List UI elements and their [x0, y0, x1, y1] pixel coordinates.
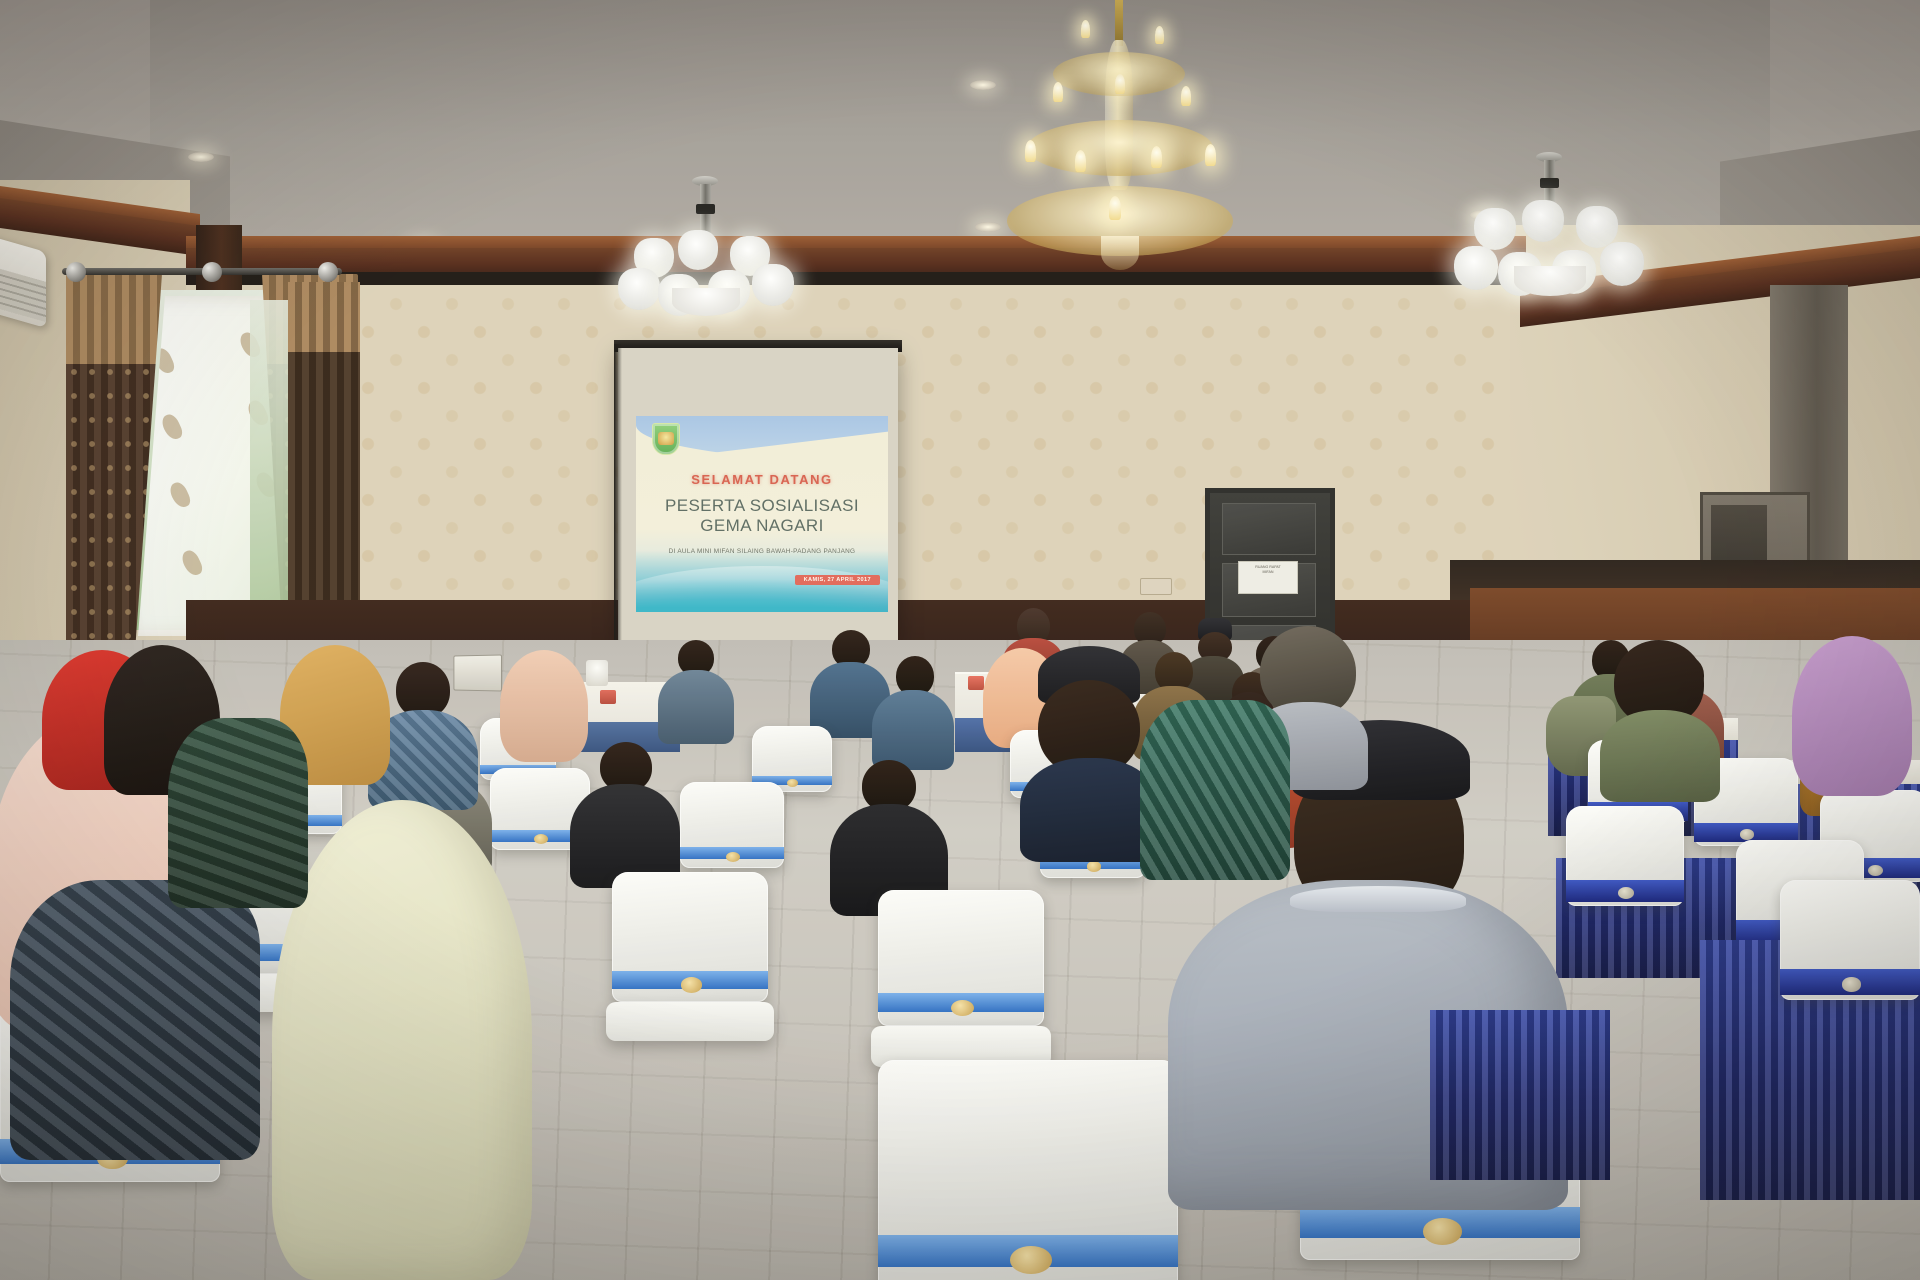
chandelier-candle-bulb [1025, 140, 1036, 162]
conference-room-photo: SELAMAT DATANG PESERTA SOSIALISASI GEMA … [0, 0, 1920, 1280]
tulip-shade [618, 268, 660, 310]
ceiling-downlight [975, 222, 1001, 232]
person-attendee-hijab [1792, 636, 1912, 796]
presentation-slide: SELAMAT DATANG PESERTA SOSIALISASI GEMA … [636, 416, 888, 612]
tulip-shade [1454, 246, 1498, 290]
chandelier-candle-bulb [1155, 26, 1164, 44]
white-tulip-chandelier-right [1452, 152, 1648, 300]
chandelier-tier-mid [1027, 120, 1213, 176]
chair-sash-knot [1868, 865, 1883, 876]
projection-screen-edge-shadow [614, 344, 622, 644]
person-torso [658, 670, 734, 744]
person-attendee-hijab [500, 650, 588, 762]
person-torso [1020, 758, 1160, 862]
door-panel-top [1222, 503, 1316, 555]
tulip-shade [1576, 206, 1618, 248]
chair-sash-knot [1842, 977, 1862, 991]
person-attendee [570, 742, 680, 882]
gold-crystal-chandelier [1005, 0, 1235, 270]
chair-blue-sash[interactable] [1566, 806, 1684, 906]
curtain-rod-finial [318, 262, 338, 282]
chair[interactable] [878, 890, 1044, 1026]
chair-seat-cover [606, 1002, 774, 1041]
chandelier-stem-ring [696, 204, 715, 214]
white-tulip-chandelier-left [616, 176, 796, 306]
person-attendee [1600, 640, 1720, 790]
chandelier-crystal-drop [1101, 236, 1139, 270]
chandelier-candle-bulb [1181, 86, 1191, 106]
person-attendee-batik [10, 880, 260, 1160]
person-torso [872, 690, 954, 770]
tulip-shade [1600, 242, 1644, 286]
wall-switch-plate[interactable] [1140, 578, 1172, 595]
person-attendee [830, 760, 948, 910]
door-sign-line1: RUANG RAPAT [1255, 565, 1280, 569]
person-attendee [658, 640, 734, 740]
chandelier-candle-bulb [1115, 74, 1125, 94]
chair[interactable] [612, 872, 768, 1002]
chandelier-candle-bulb [1081, 20, 1090, 38]
slide-date-badge: KAMIS, 27 APRIL 2017 [795, 575, 880, 585]
drink-cup [600, 690, 616, 704]
person-torso [10, 880, 260, 1160]
ac-vent-slats [0, 266, 46, 322]
curtain-rod-finial [202, 262, 222, 282]
split-ac-unit [0, 236, 46, 328]
chandelier-diffuser-bowl [1514, 266, 1586, 296]
person-attendee [168, 718, 308, 908]
ceiling-downlight [970, 80, 996, 90]
curtain-embroidery-motif [159, 412, 184, 442]
tulip-shade [1522, 200, 1564, 242]
slide-title-line2: GEMA NAGARI [636, 516, 888, 536]
chandelier-candle-bulb [1151, 146, 1162, 168]
chair-sash-knot [1423, 1218, 1462, 1244]
chair[interactable] [680, 782, 784, 868]
chair-sash-knot [1087, 861, 1102, 872]
drink-cup [968, 676, 984, 690]
door-sign-line2: MIFAN [1263, 570, 1274, 574]
person-torso [1600, 710, 1720, 802]
hijab-head-covering [500, 650, 588, 762]
chair-sash-knot [1010, 1246, 1052, 1274]
foreground-table-skirt-right-2 [1430, 1010, 1610, 1180]
tulip-shade [678, 230, 718, 270]
curtain-rod-finial [66, 262, 86, 282]
chair-sash-knot [1740, 829, 1755, 840]
hijab-head-covering [1792, 636, 1912, 796]
curtain-embroidery-motif [179, 548, 204, 578]
chair[interactable] [878, 1060, 1178, 1280]
chandelier-stem-ring [1540, 178, 1559, 188]
slide-title: PESERTA SOSIALISASI GEMA NAGARI [636, 496, 888, 536]
slide-title-line1: PESERTA SOSIALISASI [636, 496, 888, 516]
curtain-panel-far-right [288, 282, 360, 632]
hijab-head-covering [272, 800, 532, 1280]
person-torso [1140, 700, 1290, 880]
chair-blue-sash[interactable] [1780, 880, 1920, 1000]
chandelier-candle-bulb [1205, 144, 1216, 166]
flower-vase [586, 660, 608, 686]
person-attendee-batik [1140, 700, 1290, 880]
chandelier-diffuser-bowl [672, 288, 740, 316]
person-attendee [872, 656, 954, 766]
ceiling-downlight [188, 152, 214, 162]
door-sign: RUANG RAPAT MIFAN [1238, 561, 1298, 594]
person-torso [168, 718, 308, 908]
chandelier-candle-bulb [1075, 150, 1086, 172]
cornice-black-band [186, 272, 1526, 285]
chandelier-candle-bulb [1053, 82, 1063, 102]
person-attendee-hijab-foreground [272, 800, 532, 1280]
chair-sash-knot [681, 977, 703, 993]
regency-crest-logo-icon [652, 423, 680, 455]
slide-welcome-text: SELAMAT DATANG [636, 472, 888, 487]
chandelier-candle-bulb [1109, 196, 1121, 220]
curtain-embroidery-motif [167, 480, 192, 510]
tulip-shade [1474, 208, 1516, 250]
shirt-collar [1290, 886, 1466, 912]
tulip-shade [752, 264, 794, 306]
person-attendee [1020, 646, 1160, 846]
